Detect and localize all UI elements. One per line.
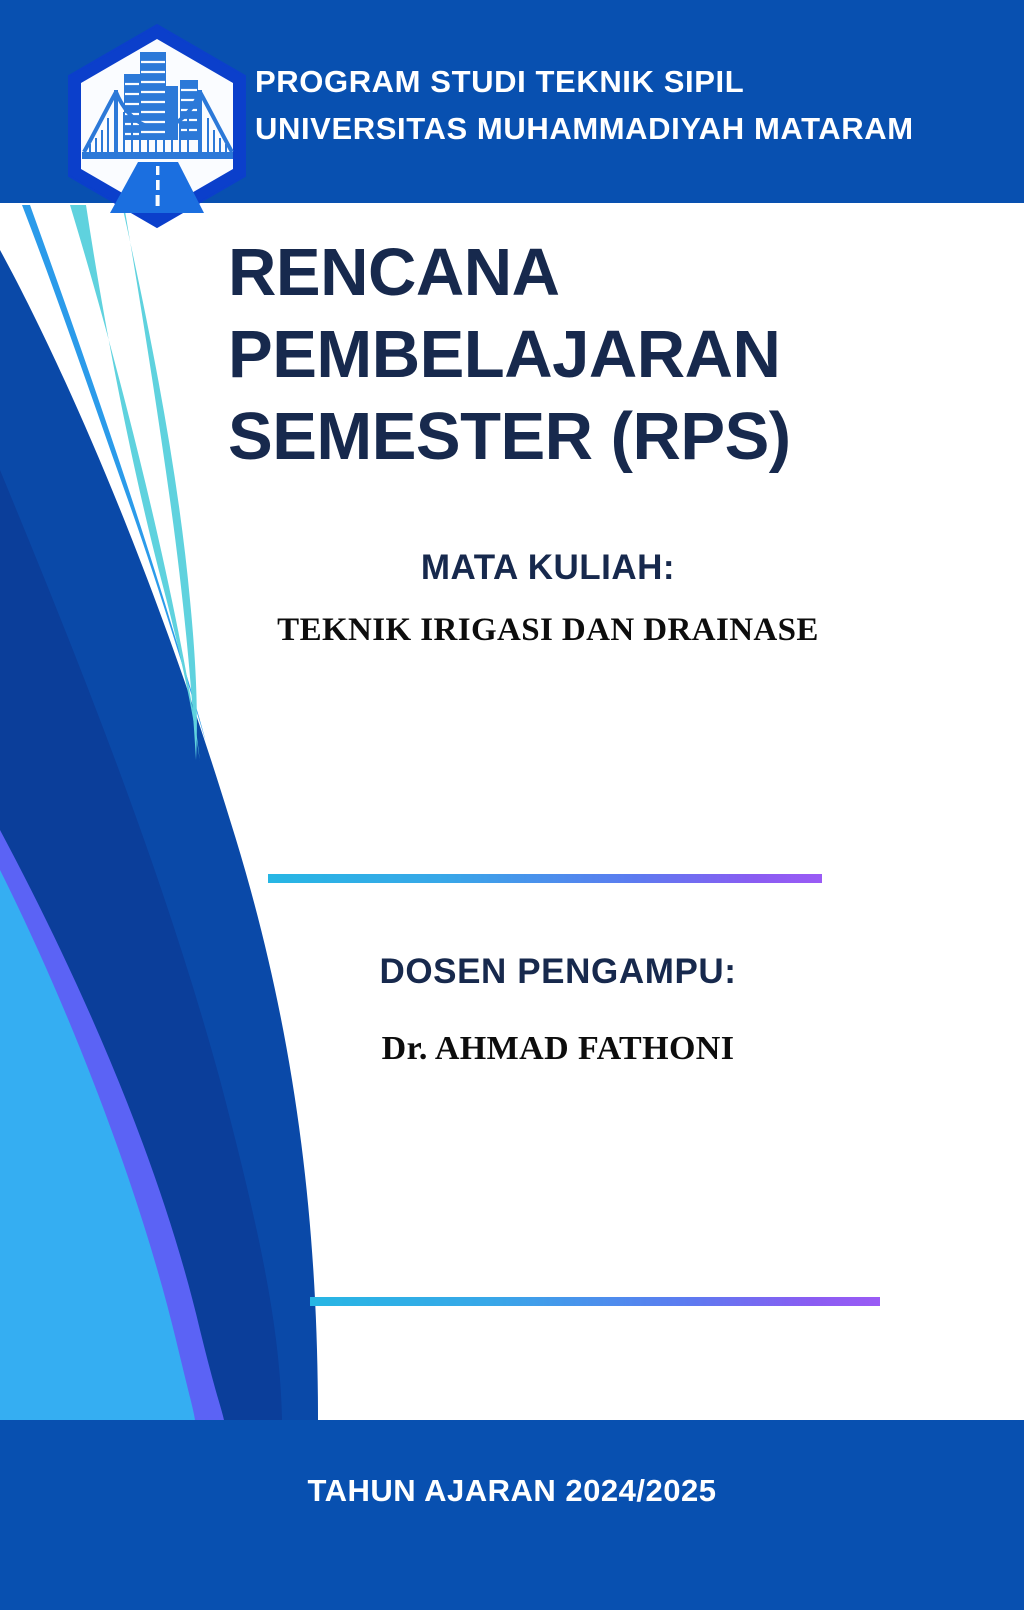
- course-label: MATA KULIAH:: [228, 548, 868, 588]
- program-name-line: PROGRAM STUDI TEKNIK SIPIL: [255, 58, 914, 105]
- course-name: TEKNIK IRIGASI DAN DRAINASE: [208, 612, 888, 649]
- page-title: RENCANA PEMBELAJARAN SEMESTER (RPS): [228, 232, 928, 478]
- divider-rule-top: [268, 874, 822, 883]
- lecturer-name: Dr. AHMAD FATHONI: [238, 1030, 878, 1068]
- lecturer-label: DOSEN PENGAMPU:: [238, 952, 878, 992]
- university-name-line: UNIVERSITAS MUHAMMADIYAH MATARAM: [255, 105, 914, 152]
- header-institution-text: PROGRAM STUDI TEKNIK SIPIL UNIVERSITAS M…: [255, 58, 914, 152]
- page-title-line-2: PEMBELAJARAN: [228, 314, 928, 396]
- road-dashes: [156, 166, 160, 206]
- academic-year-text: TAHUN AJARAN 2024/2025: [0, 1473, 1024, 1509]
- civil-engineering-bridge-logo-icon: [62, 22, 252, 230]
- page-title-line-3: SEMESTER (RPS): [228, 396, 928, 478]
- program-logo: [62, 22, 252, 230]
- footer-band: [0, 1420, 1024, 1610]
- page-title-line-1: RENCANA: [228, 232, 928, 314]
- rps-cover-page: PROGRAM STUDI TEKNIK SIPIL UNIVERSITAS M…: [0, 0, 1024, 1610]
- divider-rule-bottom: [310, 1297, 880, 1306]
